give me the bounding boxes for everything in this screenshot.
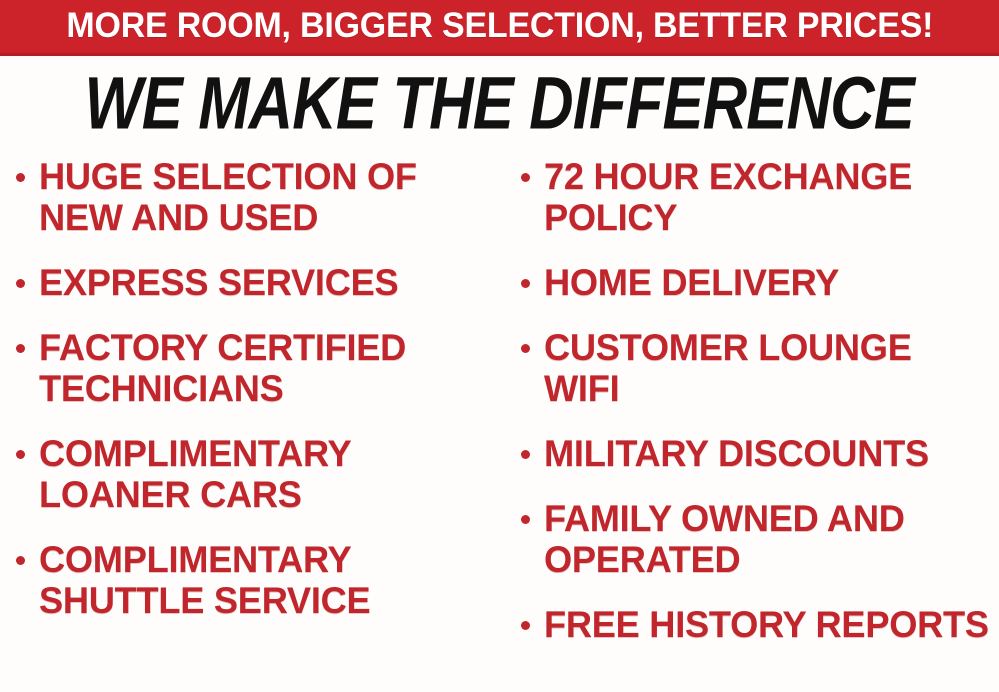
feature-column-left: HUGE SELECTION OF NEW AND USED EXPRESS S… — [0, 156, 505, 645]
bullet-dot-icon — [521, 515, 530, 524]
page-title: WE MAKE THE DIFFERENCE — [85, 66, 914, 140]
list-item-label: FREE HISTORY REPORTS — [544, 604, 990, 645]
bullet-dot-icon — [521, 344, 530, 353]
bullet-dot-icon — [16, 279, 25, 288]
list-item: MILITARY DISCOUNTS — [521, 433, 999, 474]
bullet-dot-icon — [16, 344, 25, 353]
list-item-label: COMPLIMENTARY LOANER CARS — [39, 433, 496, 515]
bullet-dot-icon — [521, 279, 530, 288]
bullet-dot-icon — [16, 173, 25, 182]
promo-banner: MORE ROOM, BIGGER SELECTION, BETTER PRIC… — [0, 0, 999, 56]
bullet-dot-icon — [521, 450, 530, 459]
list-item: 72 HOUR EXCHANGE POLICY — [521, 156, 999, 238]
list-item: EXPRESS SERVICES — [16, 262, 505, 303]
feature-columns: HUGE SELECTION OF NEW AND USED EXPRESS S… — [0, 156, 999, 692]
list-item: HOME DELIVERY — [521, 262, 999, 303]
list-item: COMPLIMENTARY SHUTTLE SERVICE — [16, 539, 505, 621]
list-item: FACTORY CERTIFIED TECHNICIANS — [16, 327, 505, 409]
list-item: FAMILY OWNED AND OPERATED — [521, 498, 999, 580]
list-item-label: COMPLIMENTARY SHUTTLE SERVICE — [39, 539, 496, 621]
feature-column-right: 72 HOUR EXCHANGE POLICY HOME DELIVERY CU… — [505, 156, 999, 669]
list-item: HUGE SELECTION OF NEW AND USED — [16, 156, 505, 238]
list-item-label: FACTORY CERTIFIED TECHNICIANS — [39, 327, 496, 409]
list-item-label: HOME DELIVERY — [544, 262, 990, 303]
list-item-label: EXPRESS SERVICES — [39, 262, 496, 303]
promo-banner-text: MORE ROOM, BIGGER SELECTION, BETTER PRIC… — [66, 8, 933, 43]
list-item-label: 72 HOUR EXCHANGE POLICY — [544, 156, 990, 238]
bullet-dot-icon — [16, 450, 25, 459]
list-item-label: FAMILY OWNED AND OPERATED — [544, 498, 990, 580]
list-item: FREE HISTORY REPORTS — [521, 604, 999, 645]
list-item: CUSTOMER LOUNGE WIFI — [521, 327, 999, 409]
list-item: COMPLIMENTARY LOANER CARS — [16, 433, 505, 515]
bullet-dot-icon — [16, 556, 25, 565]
bullet-dot-icon — [521, 621, 530, 630]
bullet-dot-icon — [521, 173, 530, 182]
advertisement-graphic: MORE ROOM, BIGGER SELECTION, BETTER PRIC… — [0, 0, 999, 692]
headline-container: WE MAKE THE DIFFERENCE — [0, 62, 999, 144]
list-item-label: HUGE SELECTION OF NEW AND USED — [39, 156, 496, 238]
list-item-label: MILITARY DISCOUNTS — [544, 433, 990, 474]
list-item-label: CUSTOMER LOUNGE WIFI — [544, 327, 990, 409]
